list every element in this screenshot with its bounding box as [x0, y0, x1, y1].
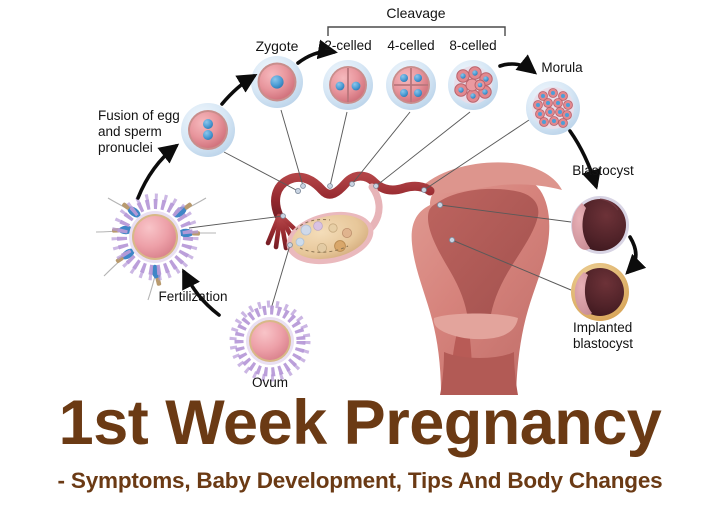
label-blastocyst: Blastocyst	[572, 163, 634, 179]
label-morula: Morula	[541, 60, 582, 76]
fertilization-diagram: Cleavage Zygote 2-celled 4-celled 8-cell…	[0, 0, 720, 395]
label-eight-celled: 8-celled	[449, 38, 496, 54]
label-cleavage: Cleavage	[386, 5, 445, 22]
fert-cytoplasm	[134, 216, 176, 258]
leader-two-celled	[330, 112, 347, 186]
label-zygote: Zygote	[256, 38, 299, 55]
stage-zygote	[251, 56, 303, 108]
leader-fertilization	[189, 216, 283, 228]
label-fusion-line3: pronuclei	[98, 140, 180, 156]
label-implanted-blastocyst-line1: Implanted	[573, 320, 633, 336]
arrow-8celled-to-morula	[500, 64, 534, 72]
leader-four-celled	[352, 112, 410, 184]
fallopian-tube-and-ovary	[268, 176, 430, 271]
stage-fertilization	[96, 197, 216, 300]
label-fusion-line1: Fusion of egg	[98, 108, 180, 124]
pronucleus-sperm	[203, 130, 213, 140]
stage-implanted-blastocyst	[571, 263, 629, 321]
page-subtitle: - Symptoms, Baby Development, Tips And B…	[0, 468, 720, 494]
stage-fusion-pronuclei	[181, 103, 235, 157]
arrow-fusion-to-zygote	[222, 76, 254, 104]
title-block: 1st Week Pregnancy - Symptoms, Baby Deve…	[0, 392, 720, 522]
uterus-anatomy	[412, 162, 562, 395]
label-implanted-blastocyst-line2: blastocyst	[573, 336, 633, 352]
pronucleus-egg	[203, 119, 213, 129]
stage-eight-celled	[448, 60, 498, 110]
poster: Cleavage Zygote 2-celled 4-celled 8-cell…	[0, 0, 720, 522]
zygote-nucleus	[270, 75, 283, 88]
leader-ovum	[271, 245, 290, 309]
label-implanted-blastocyst: Implanted blastocyst	[573, 320, 633, 352]
cleavage-bracket	[328, 27, 505, 36]
stage-two-celled	[323, 60, 373, 110]
stage-morula	[526, 81, 580, 135]
stage-four-celled	[386, 60, 436, 110]
label-four-celled: 4-celled	[387, 38, 434, 54]
page-title: 1st Week Pregnancy	[0, 392, 720, 455]
ovum-cytoplasm	[251, 322, 289, 360]
stage-blastocyst	[571, 196, 629, 254]
label-fusion-pronuclei: Fusion of egg and sperm pronuclei	[98, 108, 180, 156]
stage-ovum	[233, 304, 307, 378]
label-fusion-line2: and sperm	[98, 124, 180, 140]
label-two-celled: 2-celled	[324, 38, 371, 54]
label-fertilization: Fertilization	[158, 289, 227, 305]
arrow-blastocyst-to-implanted	[628, 237, 636, 272]
leader-fusion	[224, 152, 298, 191]
